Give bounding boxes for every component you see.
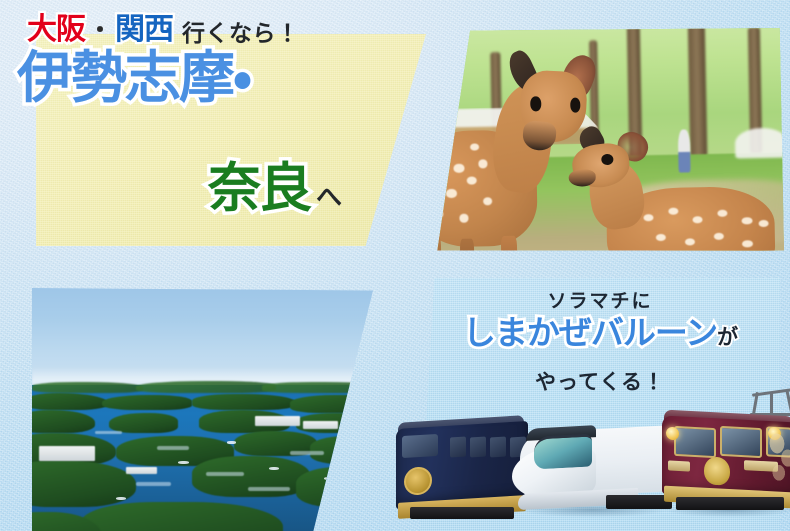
headline-kansai: 関西 [115,15,173,45]
headline-line-2: 伊勢志摩・ [17,50,250,106]
promo-line-2: しまかぜバルーンが [420,316,780,349]
promo-balloon-name: しまかぜバルーン [463,314,717,351]
headline-nara: 奈良 [208,162,310,215]
promo-line-1: ソラマチに [420,286,780,313]
headline-he-particle: へ [316,184,340,215]
headline-line-3: 奈良 へ [208,162,340,215]
promo-ga-particle: が [717,326,737,349]
promo-banner: 大阪 ・ 関西 行くなら！ 伊勢志摩・ 奈良 へ ソラマチに しまかぜバルーンが… [0,0,790,531]
promo-line-3: やってくる！ [420,366,780,396]
balloon-promo-text-group: ソラマチに しまかぜバルーンが やってくる！ [420,278,780,531]
headline-line-1: 大阪 ・ 関西 行くなら！ [27,15,300,45]
headline-ikunara: 行くなら！ [182,22,300,45]
headline-osaka: 大阪 [27,15,85,45]
headline-separator: ・ [87,19,113,45]
